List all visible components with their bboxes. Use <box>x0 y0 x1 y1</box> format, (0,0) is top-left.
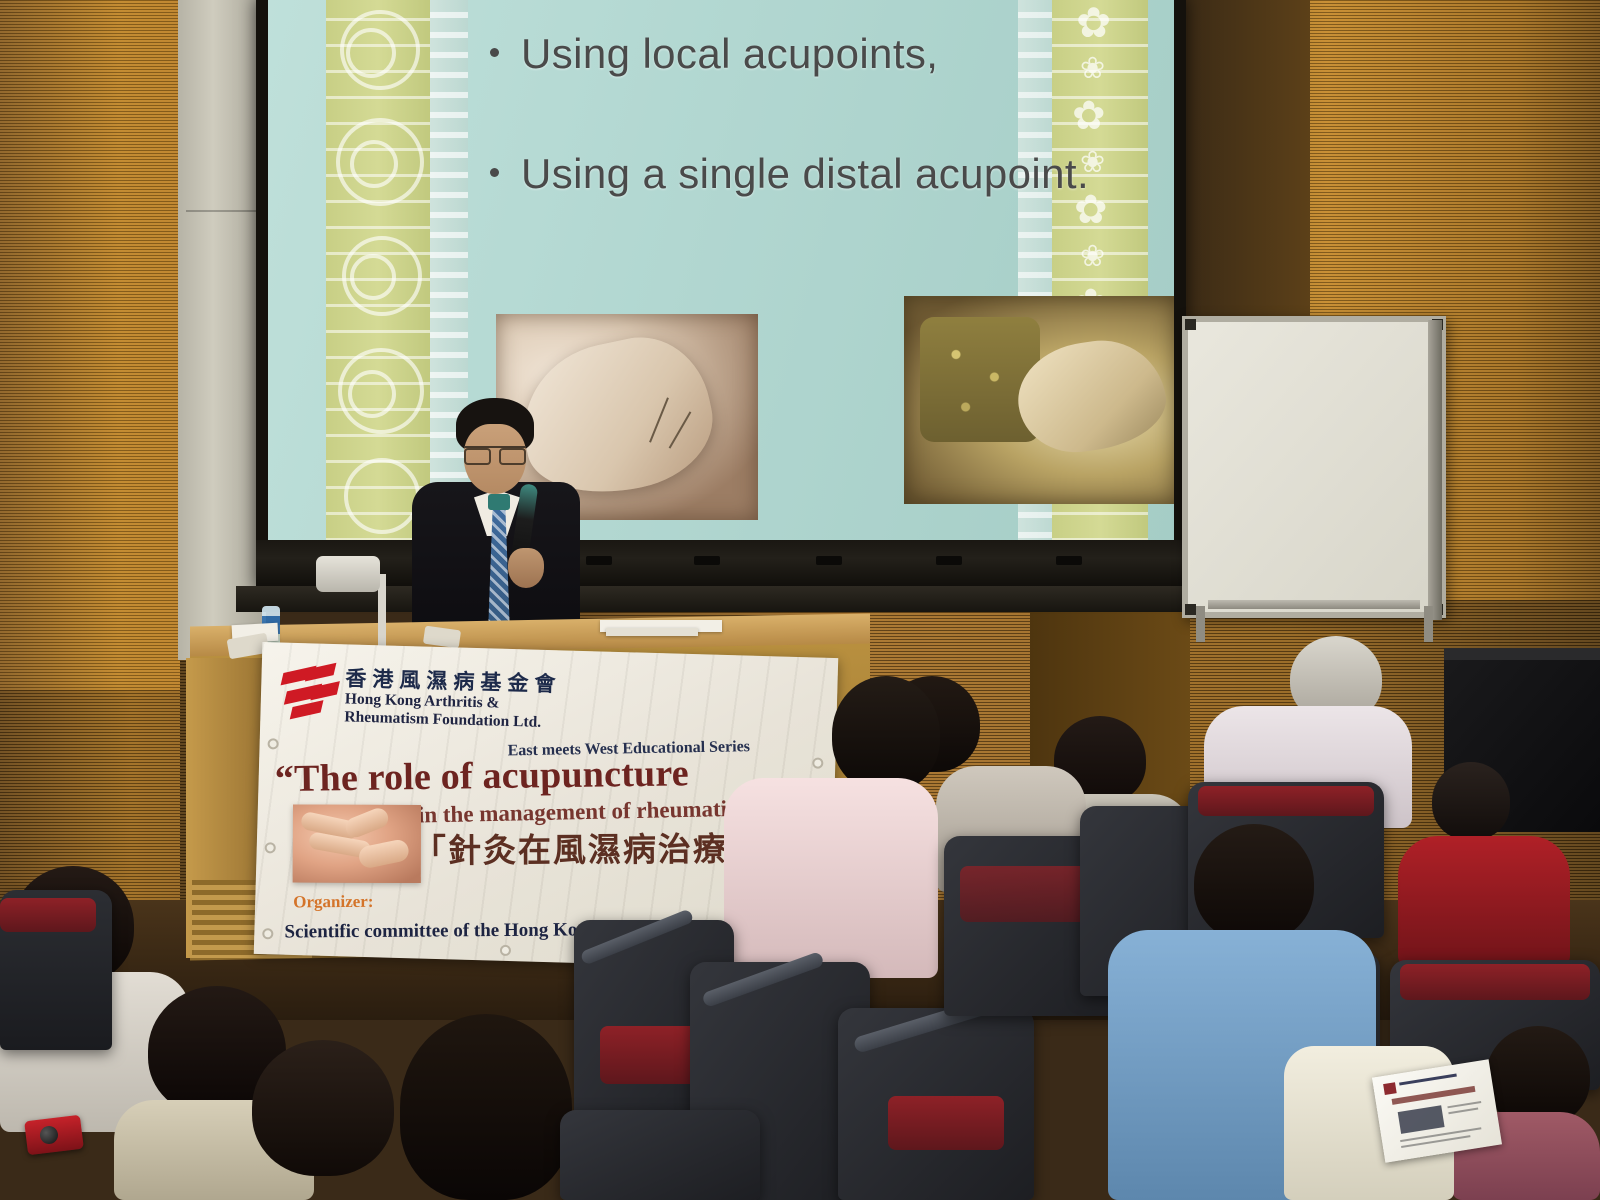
audience-head <box>1486 1026 1590 1126</box>
glasses-icon <box>464 446 526 461</box>
woman-red-jacket-torso <box>1398 836 1570 966</box>
slide-bullet-1: Using local acupoints, <box>490 30 938 78</box>
presenter-hand <box>508 548 544 588</box>
photo-scene: ✿ ❀ ✿ ❀ ✿ ❀ ✿ ❀ ✿ ❀ ✿ Using local acupoi… <box>0 0 1600 1200</box>
projection-screen: ✿ ❀ ✿ ❀ ✿ ❀ ✿ ❀ ✿ ❀ ✿ Using local acupoi… <box>268 0 1174 540</box>
presenter-tie-knot <box>488 494 510 510</box>
loudspeaker-top <box>1444 648 1600 660</box>
banner-title: “The role of acupuncture <box>275 751 690 801</box>
audience-head <box>252 1040 394 1176</box>
desk-paper <box>606 628 698 636</box>
herb-texture <box>920 317 1040 442</box>
banner-organizer-label: Organizer: <box>293 892 373 913</box>
seat-cushion <box>1198 786 1374 816</box>
man-blue-shirt-head <box>1194 824 1314 942</box>
right-wall-shadow <box>1180 0 1310 330</box>
seat-cushion <box>888 1096 1004 1150</box>
man-pink-shirt-head <box>832 676 940 792</box>
auditorium-seat[interactable] <box>560 1110 760 1200</box>
presentation-slide: ✿ ❀ ✿ ❀ ✿ ❀ ✿ ❀ ✿ ❀ ✿ Using local acupoi… <box>268 0 1174 540</box>
foundation-logo-icon <box>282 665 339 719</box>
audience-head <box>400 1014 572 1200</box>
whiteboard-pen-tray <box>1208 600 1420 609</box>
slide-bullet-2-text: Using a single distal acupoint. <box>521 150 1089 197</box>
banner-acupuncture-photo <box>293 805 421 883</box>
bullet-dot-icon <box>490 168 499 177</box>
seat-cushion <box>600 1026 704 1084</box>
microphone-stand-head[interactable] <box>316 556 380 592</box>
whiteboard-leg <box>1196 606 1205 642</box>
whiteboard-leg <box>1424 606 1433 642</box>
bullet-dot-icon <box>490 48 499 57</box>
whiteboard-side-edge <box>1428 320 1442 620</box>
slide-bullet-1-text: Using local acupoints, <box>521 30 938 77</box>
seat-cushion <box>1400 964 1590 1000</box>
audience-head <box>1432 762 1510 840</box>
left-pillar <box>178 0 266 660</box>
banner-org-english-line2: Rheumatism Foundation Ltd. <box>344 708 541 731</box>
programme-leaflet[interactable] <box>1372 1059 1502 1162</box>
hand-moxibustion-photo <box>904 296 1174 504</box>
projection-screen-bottom-bar <box>256 540 1186 586</box>
pillar-seam <box>186 210 258 212</box>
banner-title-chinese: 「針灸在風濕病治療的 <box>413 822 763 872</box>
whiteboard[interactable] <box>1182 316 1446 618</box>
presenter <box>412 398 580 644</box>
slide-bullet-2: Using a single distal acupoint. <box>490 150 1089 198</box>
man-pink-shirt-torso <box>724 778 938 978</box>
seat-cushion <box>0 898 96 932</box>
